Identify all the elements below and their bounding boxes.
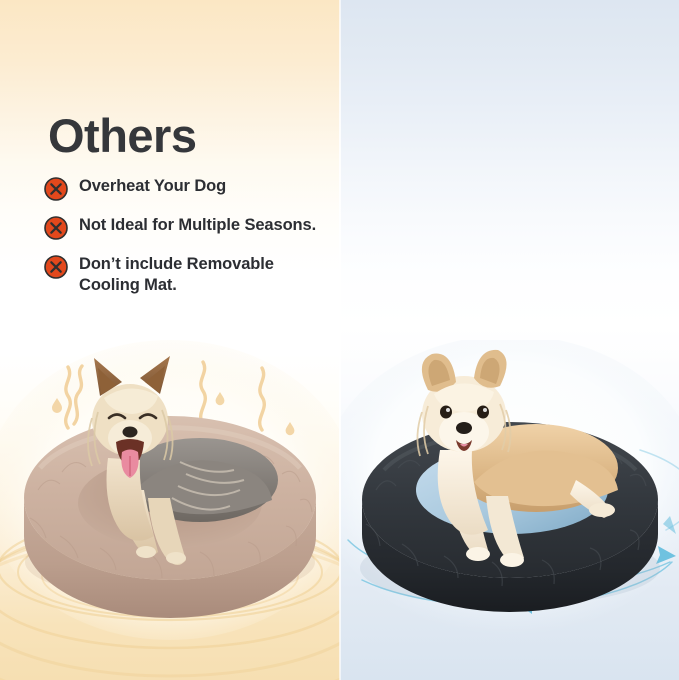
- list-item-label: Don’t include Removable Cooling Mat.: [79, 254, 334, 297]
- x-circle-icon: [44, 216, 68, 240]
- list-item: Overheat Your Dog: [44, 176, 334, 201]
- ours-illustration: [340, 340, 679, 680]
- others-heading: Others: [48, 112, 197, 159]
- list-item-label: Overheat Your Dog: [79, 176, 226, 197]
- list-item: Not Ideal for Multiple Seasons.: [44, 215, 334, 240]
- panel-divider: [339, 0, 341, 680]
- product-comparison-graphic: Others Overheat Your Dog: [0, 0, 679, 680]
- list-item-label: Not Ideal for Multiple Seasons.: [79, 215, 316, 236]
- others-panel: Others Overheat Your Dog: [0, 0, 340, 680]
- list-item: Don’t include Removable Cooling Mat.: [44, 254, 334, 297]
- x-circle-icon: [44, 255, 68, 279]
- ours-panel: Ours Keep your dog cool and fresh and av…: [340, 0, 679, 680]
- others-feature-list: Overheat Your Dog Not Ideal for Multiple…: [44, 176, 334, 311]
- x-circle-icon: [44, 177, 68, 201]
- others-illustration: [0, 340, 340, 680]
